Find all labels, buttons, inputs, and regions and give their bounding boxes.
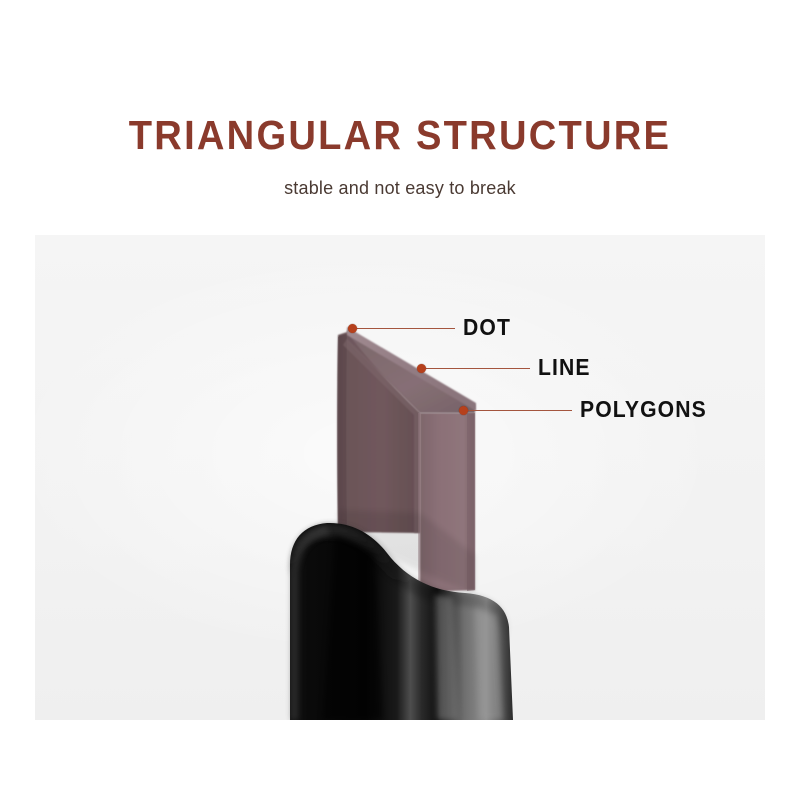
page-subtitle: stable and not easy to break xyxy=(0,178,800,199)
photo-inner xyxy=(35,235,765,720)
product-infographic-page: TRIANGULAR STRUCTURE stable and not easy… xyxy=(0,0,800,800)
header: TRIANGULAR STRUCTURE stable and not easy… xyxy=(0,0,800,235)
lipstick-product-image xyxy=(35,235,765,720)
page-title: TRIANGULAR STRUCTURE xyxy=(28,112,772,159)
footer-whitespace xyxy=(0,720,800,800)
product-photo-panel xyxy=(35,235,765,720)
